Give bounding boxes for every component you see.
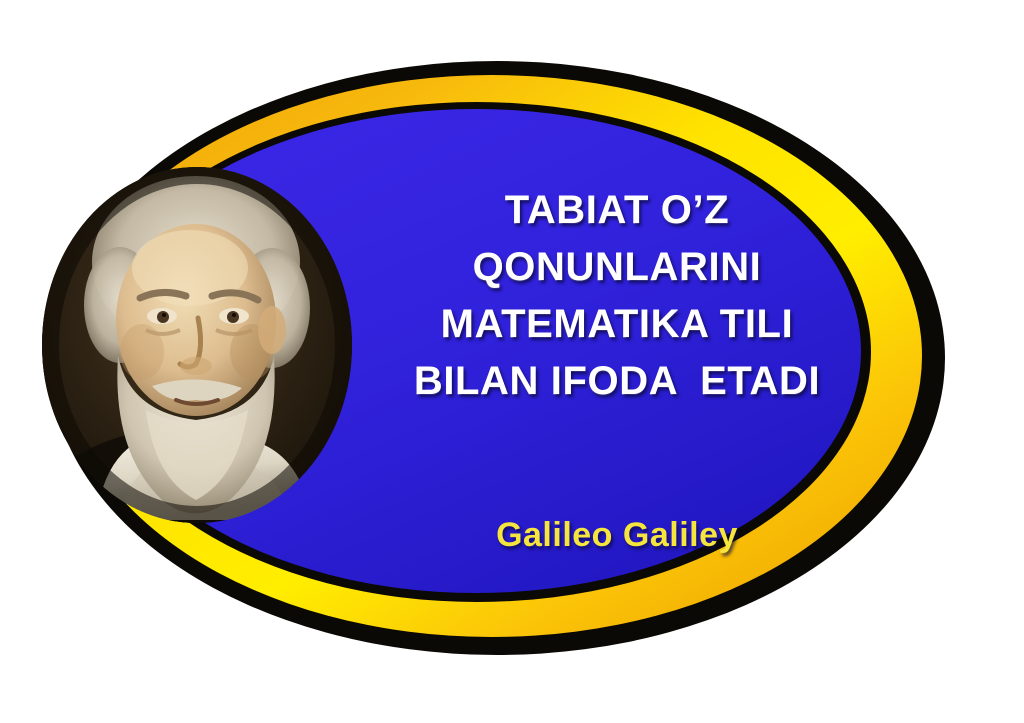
badge-ellipse [0,0,1024,723]
badge-graphic [0,0,1024,723]
poster-canvas: TABIAT O’Z QONUNLARINI MATEMATIKA TILI B… [0,0,1024,723]
galileo-portrait [42,167,352,523]
